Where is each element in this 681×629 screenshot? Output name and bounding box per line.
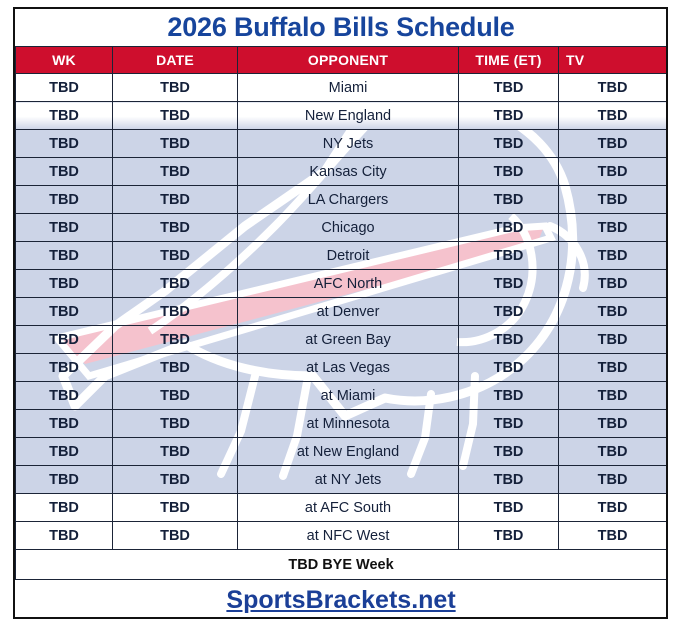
cell-tv: TBD	[559, 494, 667, 522]
cell-time: TBD	[459, 74, 559, 102]
cell-week: TBD	[16, 438, 113, 466]
cell-date: TBD	[113, 522, 238, 550]
table-row: TBD TBD at Minnesota TBD TBD	[16, 410, 667, 438]
cell-week: TBD	[16, 494, 113, 522]
table-row: TBD TBD at NFC West TBD TBD	[16, 522, 667, 550]
cell-time: TBD	[459, 522, 559, 550]
cell-tv: TBD	[559, 158, 667, 186]
cell-date: TBD	[113, 410, 238, 438]
cell-tv: TBD	[559, 382, 667, 410]
page-title-cell: 2026 Buffalo Bills Schedule	[16, 9, 667, 47]
footer-cell: SportsBrackets.net	[16, 580, 667, 620]
cell-tv: TBD	[559, 186, 667, 214]
cell-date: TBD	[113, 298, 238, 326]
cell-time: TBD	[459, 214, 559, 242]
cell-date: TBD	[113, 326, 238, 354]
cell-opponent: Miami	[238, 74, 459, 102]
cell-week: TBD	[16, 214, 113, 242]
cell-week: TBD	[16, 74, 113, 102]
cell-week: TBD	[16, 382, 113, 410]
table-row: TBD TBD LA Chargers TBD TBD	[16, 186, 667, 214]
cell-week: TBD	[16, 186, 113, 214]
cell-time: TBD	[459, 270, 559, 298]
table-row: TBD TBD New England TBD TBD	[16, 102, 667, 130]
column-header-wk[interactable]: WK	[16, 47, 113, 74]
cell-opponent: NY Jets	[238, 130, 459, 158]
cell-week: TBD	[16, 270, 113, 298]
cell-opponent: at Minnesota	[238, 410, 459, 438]
cell-opponent: New England	[238, 102, 459, 130]
table-header-row: WK DATE OPPONENT TIME (ET) TV	[16, 47, 667, 74]
cell-time: TBD	[459, 466, 559, 494]
cell-date: TBD	[113, 438, 238, 466]
cell-week: TBD	[16, 522, 113, 550]
table-row: TBD TBD AFC North TBD TBD	[16, 270, 667, 298]
cell-time: TBD	[459, 242, 559, 270]
footer-row: SportsBrackets.net	[16, 580, 667, 620]
cell-date: TBD	[113, 102, 238, 130]
cell-tv: TBD	[559, 130, 667, 158]
cell-date: TBD	[113, 354, 238, 382]
cell-date: TBD	[113, 270, 238, 298]
cell-opponent: at AFC South	[238, 494, 459, 522]
cell-week: TBD	[16, 410, 113, 438]
cell-date: TBD	[113, 74, 238, 102]
title-row: 2026 Buffalo Bills Schedule	[16, 9, 667, 47]
cell-tv: TBD	[559, 74, 667, 102]
bye-week-row: TBD BYE Week	[16, 550, 667, 580]
cell-opponent: AFC North	[238, 270, 459, 298]
table-row: TBD TBD at Denver TBD TBD	[16, 298, 667, 326]
cell-tv: TBD	[559, 214, 667, 242]
cell-opponent: at Miami	[238, 382, 459, 410]
column-header-date[interactable]: DATE	[113, 47, 238, 74]
cell-date: TBD	[113, 186, 238, 214]
column-header-tv[interactable]: TV	[559, 47, 667, 74]
sportsbrackets-link[interactable]: SportsBrackets.net	[226, 586, 455, 614]
cell-week: TBD	[16, 466, 113, 494]
cell-opponent: at NY Jets	[238, 466, 459, 494]
cell-date: TBD	[113, 494, 238, 522]
cell-time: TBD	[459, 298, 559, 326]
cell-tv: TBD	[559, 326, 667, 354]
table-row: TBD TBD at New England TBD TBD	[16, 438, 667, 466]
cell-opponent: at Las Vegas	[238, 354, 459, 382]
cell-tv: TBD	[559, 102, 667, 130]
cell-time: TBD	[459, 186, 559, 214]
cell-date: TBD	[113, 130, 238, 158]
table-row: TBD TBD at Green Bay TBD TBD	[16, 326, 667, 354]
cell-opponent: at Green Bay	[238, 326, 459, 354]
cell-tv: TBD	[559, 438, 667, 466]
schedule-table: 2026 Buffalo Bills Schedule WK DATE OPPO…	[15, 9, 667, 619]
bye-week-label: TBD BYE Week	[16, 550, 667, 580]
table-row: TBD TBD NY Jets TBD TBD	[16, 130, 667, 158]
cell-time: TBD	[459, 354, 559, 382]
cell-tv: TBD	[559, 522, 667, 550]
cell-time: TBD	[459, 158, 559, 186]
table-row: TBD TBD at Miami TBD TBD	[16, 382, 667, 410]
cell-opponent: at NFC West	[238, 522, 459, 550]
cell-week: TBD	[16, 130, 113, 158]
table-row: TBD TBD Miami TBD TBD	[16, 74, 667, 102]
cell-date: TBD	[113, 382, 238, 410]
cell-tv: TBD	[559, 466, 667, 494]
cell-time: TBD	[459, 382, 559, 410]
cell-tv: TBD	[559, 270, 667, 298]
page-title: 2026 Buffalo Bills Schedule	[167, 12, 514, 42]
table-row: TBD TBD Detroit TBD TBD	[16, 242, 667, 270]
cell-time: TBD	[459, 410, 559, 438]
table-row: TBD TBD Kansas City TBD TBD	[16, 158, 667, 186]
table-row: TBD TBD Chicago TBD TBD	[16, 214, 667, 242]
cell-tv: TBD	[559, 298, 667, 326]
cell-time: TBD	[459, 102, 559, 130]
cell-time: TBD	[459, 130, 559, 158]
column-header-time[interactable]: TIME (ET)	[459, 47, 559, 74]
cell-opponent: at New England	[238, 438, 459, 466]
cell-time: TBD	[459, 494, 559, 522]
cell-week: TBD	[16, 326, 113, 354]
cell-opponent: Chicago	[238, 214, 459, 242]
cell-time: TBD	[459, 438, 559, 466]
table-row: TBD TBD at AFC South TBD TBD	[16, 494, 667, 522]
cell-date: TBD	[113, 214, 238, 242]
cell-tv: TBD	[559, 242, 667, 270]
cell-week: TBD	[16, 298, 113, 326]
cell-tv: TBD	[559, 354, 667, 382]
cell-week: TBD	[16, 102, 113, 130]
table-row: TBD TBD at Las Vegas TBD TBD	[16, 354, 667, 382]
column-header-opponent[interactable]: OPPONENT	[238, 47, 459, 74]
cell-opponent: Detroit	[238, 242, 459, 270]
cell-date: TBD	[113, 158, 238, 186]
schedule-page: 2026 Buffalo Bills Schedule WK DATE OPPO…	[0, 0, 681, 629]
cell-opponent: at Denver	[238, 298, 459, 326]
cell-opponent: LA Chargers	[238, 186, 459, 214]
cell-time: TBD	[459, 326, 559, 354]
table-row: TBD TBD at NY Jets TBD TBD	[16, 466, 667, 494]
cell-week: TBD	[16, 242, 113, 270]
cell-date: TBD	[113, 466, 238, 494]
cell-date: TBD	[113, 242, 238, 270]
cell-week: TBD	[16, 354, 113, 382]
cell-week: TBD	[16, 158, 113, 186]
cell-opponent: Kansas City	[238, 158, 459, 186]
schedule-frame: 2026 Buffalo Bills Schedule WK DATE OPPO…	[13, 7, 668, 619]
cell-tv: TBD	[559, 410, 667, 438]
